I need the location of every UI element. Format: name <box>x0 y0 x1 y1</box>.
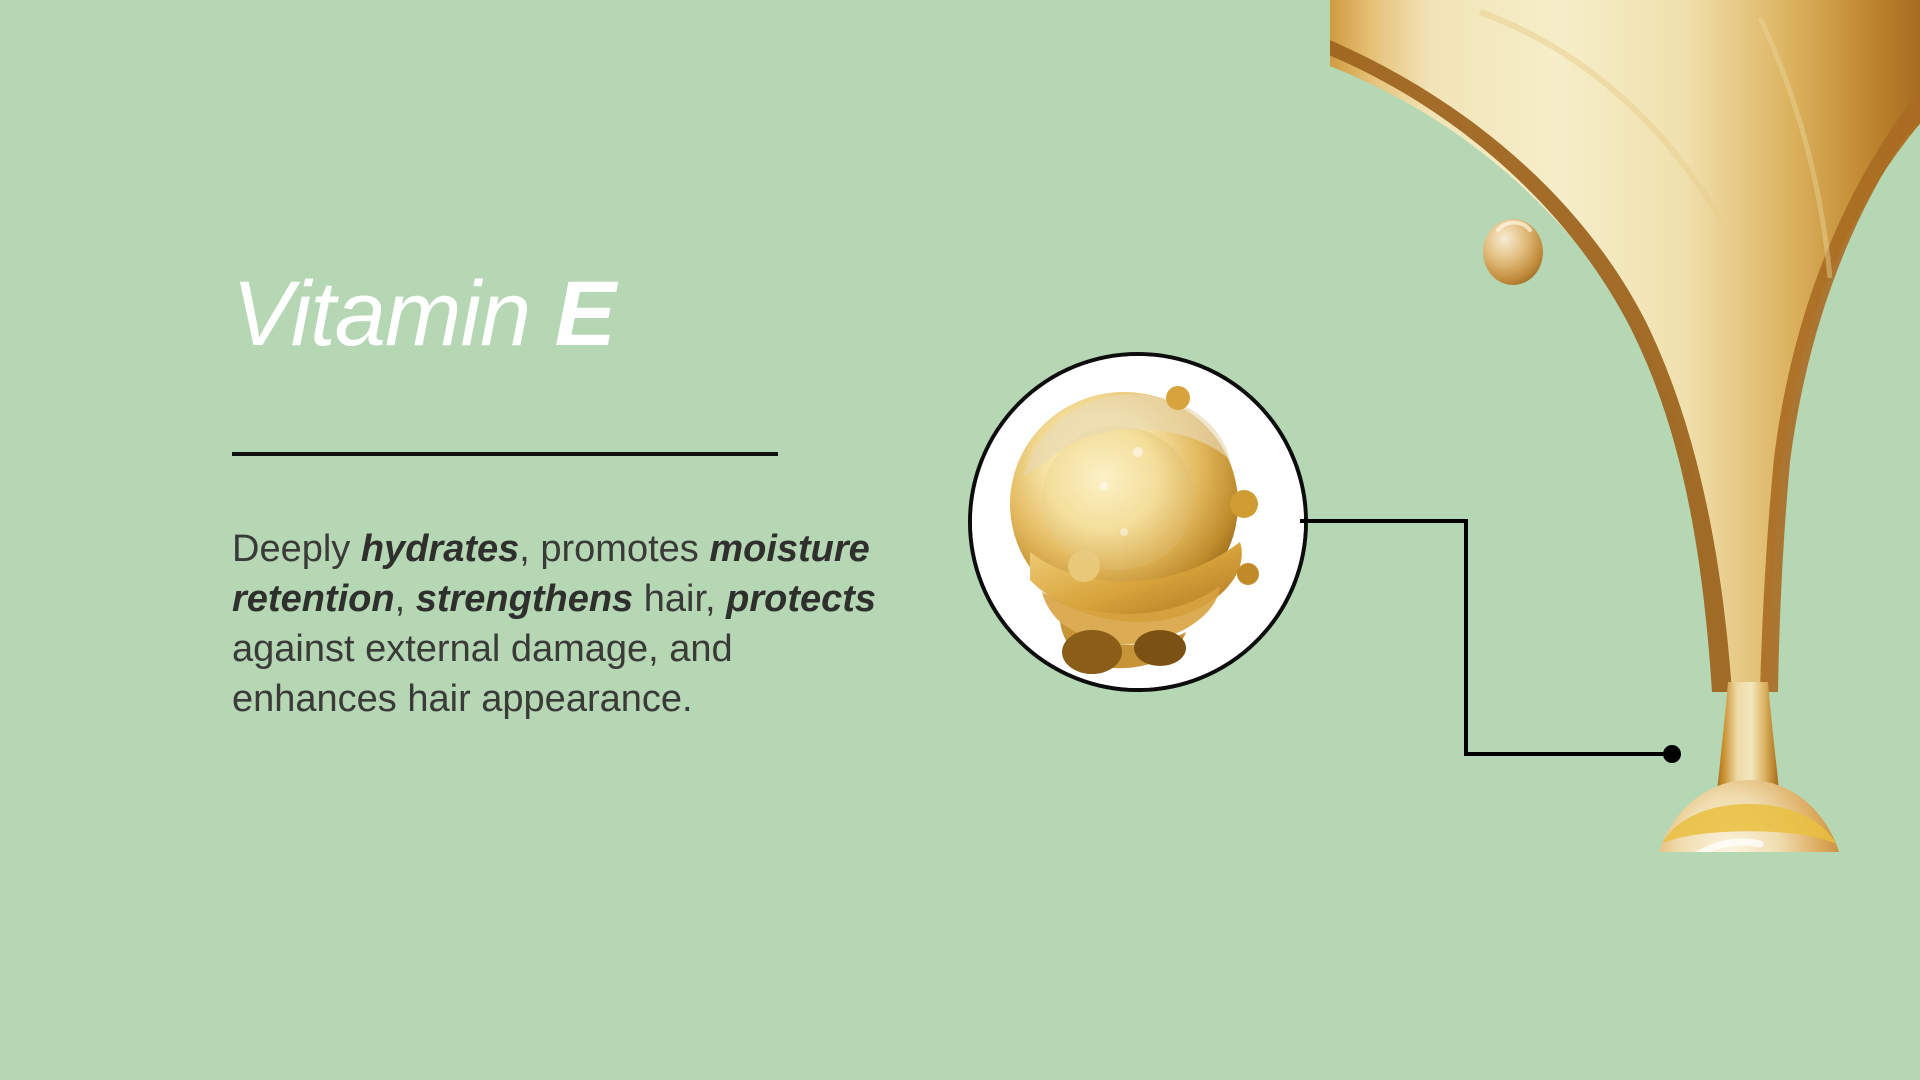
body-emphasis: strengthens <box>416 578 633 620</box>
body-text-run: hair, <box>633 578 726 620</box>
ingredient-circle-callout[interactable] <box>968 352 1308 692</box>
body-description: Deeply hydrates, promotes moisture reten… <box>232 524 892 725</box>
body-text-run: Deeply <box>232 528 361 570</box>
title-divider <box>232 452 778 456</box>
callout-connector <box>1280 480 1720 800</box>
body-emphasis: protects <box>726 578 876 620</box>
body-text-run: , <box>395 578 416 620</box>
oil-sphere-closeup-image <box>972 356 1304 688</box>
text-column: Vitamin E <box>232 268 892 360</box>
falling-oil-droplet <box>1478 190 1548 290</box>
title-prefix: Vitamin <box>232 263 555 365</box>
connector-polyline <box>1300 521 1672 754</box>
body-emphasis: hydrates <box>361 528 519 570</box>
slide-canvas: Vitamin E Deeply hydrates, promotes mois… <box>0 0 1920 1080</box>
page-title: Vitamin E <box>232 268 892 360</box>
title-emphasis: E <box>555 263 615 365</box>
connector-endpoint-dot <box>1663 745 1681 763</box>
body-text-run: against external damage, and enhances ha… <box>232 628 733 720</box>
body-text-run: , promotes <box>519 528 709 570</box>
